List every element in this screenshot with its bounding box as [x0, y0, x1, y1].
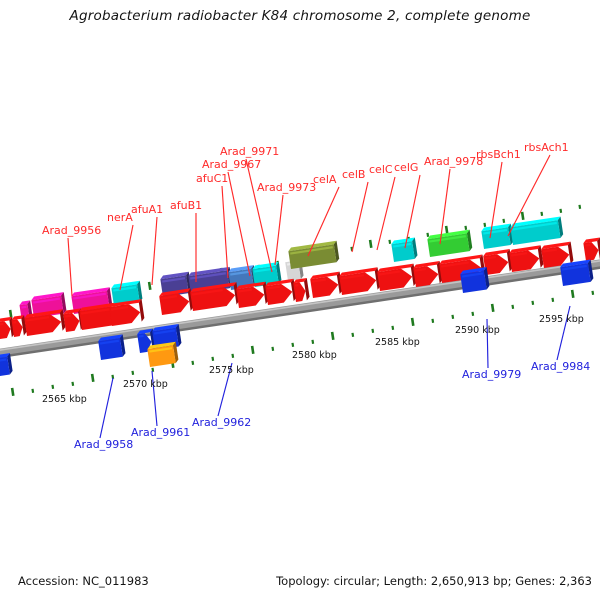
- gene-label-celg[interactable]: celG: [394, 161, 418, 174]
- tick-mark: [540, 212, 543, 216]
- tick-mark: [559, 209, 562, 213]
- gene-feature[interactable]: [560, 259, 594, 286]
- tick-mark: [578, 205, 581, 209]
- tick-mark: [271, 347, 274, 351]
- gene-feature[interactable]: [427, 230, 473, 257]
- tick-mark: [591, 291, 594, 295]
- scale-label: 2590 kbp: [455, 325, 500, 336]
- gene-feature[interactable]: [98, 334, 126, 360]
- tick-mark: [471, 312, 474, 316]
- tick-mark: [251, 346, 255, 354]
- gene-feature[interactable]: [391, 237, 418, 262]
- tick-mark: [31, 389, 34, 393]
- tick-mark: [388, 240, 391, 244]
- gene-feature[interactable]: [481, 224, 514, 249]
- scale-label: 2575 kbp: [209, 365, 254, 376]
- gene-feature[interactable]: [583, 238, 600, 261]
- tick-mark: [502, 219, 505, 223]
- gene-feature[interactable]: [236, 282, 269, 308]
- gene-label-arad_9962[interactable]: Arad_9962: [192, 416, 251, 429]
- gene-label-arad_9978[interactable]: Arad_9978: [424, 155, 483, 168]
- label-leader-line: [68, 238, 72, 296]
- tick-mark: [231, 354, 234, 358]
- gene-label-arad_9958[interactable]: Arad_9958: [74, 438, 133, 451]
- tick-mark: [511, 305, 514, 309]
- gene-label-rbsach1[interactable]: rbsAch1: [524, 141, 569, 154]
- gene-label-rbsbch1[interactable]: rbsBch1: [476, 148, 521, 161]
- scale-label: 2565 kbp: [42, 394, 87, 405]
- gene-label-arad_9984[interactable]: Arad_9984: [531, 360, 590, 373]
- topology-status: Topology: circular; Length: 2,650,913 bp…: [276, 574, 592, 588]
- label-leader-line: [152, 217, 157, 285]
- tick-mark: [491, 304, 495, 312]
- tick-mark: [451, 315, 454, 319]
- label-leader-line: [120, 225, 133, 290]
- accession-status: Accession: NC_011983: [18, 574, 149, 588]
- tick-mark: [426, 233, 429, 237]
- label-leader-line: [352, 182, 368, 252]
- tick-mark: [371, 329, 374, 333]
- gene-label-arad_9956[interactable]: Arad_9956: [42, 224, 101, 237]
- gene-label-afuc1[interactable]: afuC1: [196, 172, 228, 185]
- gene-feature[interactable]: [413, 261, 443, 287]
- tick-mark: [411, 318, 415, 326]
- tick-mark: [431, 319, 434, 323]
- label-leader-line: [440, 169, 450, 244]
- gene-label-cela[interactable]: celA: [313, 173, 336, 186]
- gene-label-celb[interactable]: celB: [342, 168, 365, 181]
- gene-feature[interactable]: [159, 288, 194, 315]
- gene-label-arad_9967[interactable]: Arad_9967: [202, 158, 261, 171]
- tick-mark: [369, 240, 373, 248]
- label-leader-line: [228, 172, 250, 276]
- gene-label-nera[interactable]: nerA: [107, 211, 133, 224]
- scale-label: 2580 kbp: [292, 350, 337, 361]
- gene-label-celc[interactable]: celC: [369, 163, 393, 176]
- gene-feature[interactable]: [265, 279, 297, 305]
- tick-mark: [11, 388, 15, 396]
- gene-feature[interactable]: [147, 342, 179, 367]
- label-leader-line: [275, 195, 283, 265]
- tick-mark: [521, 212, 525, 220]
- gene-label-afua1[interactable]: afuA1: [131, 203, 163, 216]
- gene-feature[interactable]: [460, 267, 490, 293]
- gene-label-arad_9973[interactable]: Arad_9973: [257, 181, 316, 194]
- gene-feature[interactable]: [509, 245, 544, 272]
- scale-label: 2595 kbp: [539, 314, 584, 325]
- tick-mark: [51, 385, 54, 389]
- gene-feature[interactable]: [310, 272, 343, 298]
- tick-mark: [483, 223, 486, 227]
- tick-mark: [148, 282, 152, 290]
- tick-mark: [391, 326, 394, 330]
- tick-mark: [445, 226, 449, 234]
- gene-label-afub1[interactable]: afuB1: [170, 199, 202, 212]
- tick-mark: [311, 340, 314, 344]
- scale-label: 2570 kbp: [123, 379, 168, 390]
- gene-feature[interactable]: [288, 241, 340, 269]
- label-leader-line: [222, 186, 228, 278]
- tick-mark: [551, 298, 554, 302]
- genome-map-canvas[interactable]: [0, 0, 600, 600]
- tick-mark: [91, 374, 95, 382]
- tick-mark: [71, 382, 74, 386]
- gene-feature[interactable]: [483, 249, 513, 275]
- genome-map-viewer: Agrobacterium radiobacter K84 chromosome…: [0, 0, 600, 600]
- tick-mark: [464, 226, 467, 230]
- gene-feature[interactable]: [377, 264, 417, 291]
- gene-feature[interactable]: [510, 217, 564, 245]
- tick-mark: [531, 301, 534, 305]
- tick-mark: [9, 310, 13, 318]
- tick-mark: [571, 290, 575, 298]
- gene-label-arad_9961[interactable]: Arad_9961: [131, 426, 190, 439]
- gene-label-arad_9971[interactable]: Arad_9971: [220, 145, 279, 158]
- tick-mark: [331, 332, 335, 340]
- tick-mark: [291, 343, 294, 347]
- tick-mark: [211, 357, 214, 361]
- label-leader-line: [246, 159, 272, 272]
- gene-label-arad_9979[interactable]: Arad_9979: [462, 368, 521, 381]
- gene-feature[interactable]: [0, 353, 13, 376]
- label-leader-line: [377, 177, 395, 250]
- label-leader-line: [100, 378, 113, 438]
- tick-mark: [191, 361, 194, 365]
- scale-label: 2585 kbp: [375, 337, 420, 348]
- gene-feature[interactable]: [339, 267, 381, 295]
- tick-mark: [351, 333, 354, 337]
- tick-mark: [131, 371, 134, 375]
- label-leader-line: [405, 175, 420, 248]
